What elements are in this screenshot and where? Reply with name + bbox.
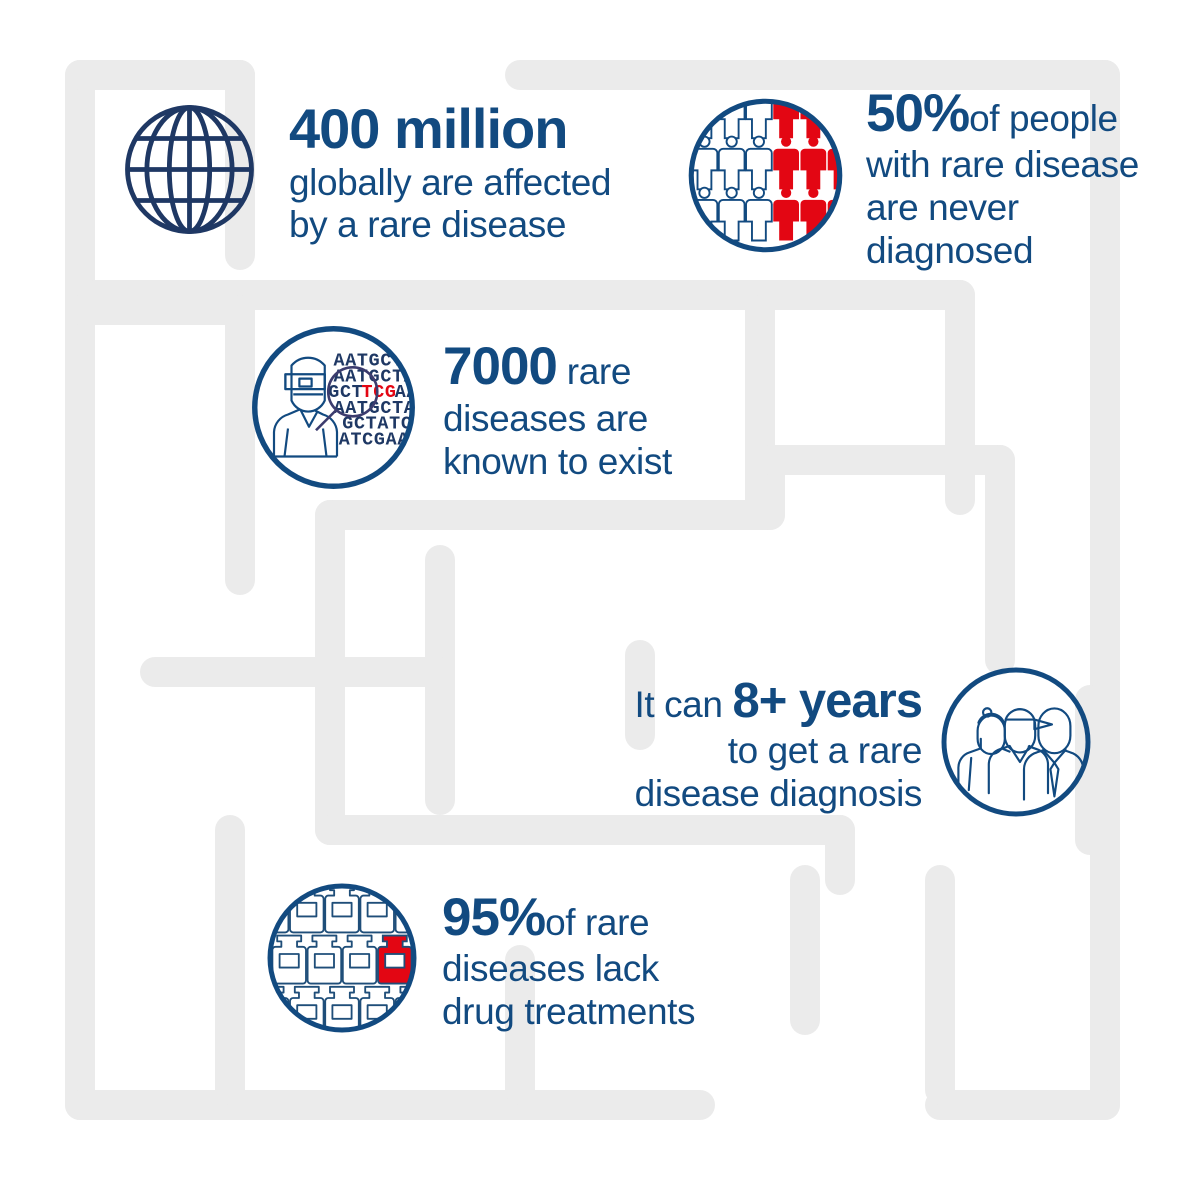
stat-8-plus-years-line-1: to get a rare xyxy=(728,730,922,771)
stat-8-plus-years-line-2: disease diagnosis xyxy=(635,773,922,814)
stat-95-percent-headline: 95% xyxy=(442,888,545,947)
stat-7000-diseases-headline: 7000 xyxy=(443,337,557,396)
stat-7000-diseases-line-3: known to exist xyxy=(443,441,672,482)
stat-50-percent-line-1: of people xyxy=(969,98,1118,139)
stat-8-plus-years-headline: 8+ years xyxy=(732,674,922,728)
stat-95-percent-line-3: drug treatments xyxy=(442,991,695,1032)
people-grid-icon xyxy=(683,93,848,263)
stat-50-percent-line-3: are never xyxy=(866,187,1019,228)
stat-8-plus-years-text: It can 8+ years to get a rare disease di… xyxy=(560,673,922,816)
stat-400-million-headline: 400 million xyxy=(289,97,567,160)
highlighted-vial xyxy=(378,936,412,984)
stat-50-percent-line-4: diagnosed xyxy=(866,230,1033,271)
infographic-canvas: 400 million globally are affected by a r… xyxy=(0,0,1200,1177)
stat-400-million: 400 million globally are affected by a r… xyxy=(112,92,689,252)
stat-8-plus-years-prefix: It can xyxy=(634,684,722,725)
globe-icon xyxy=(112,92,267,252)
stat-95-percent-line-2: diseases lack xyxy=(442,948,659,989)
stat-400-million-text: 400 million globally are affected by a r… xyxy=(289,97,689,248)
stat-50-percent-line-2: with rare disease xyxy=(866,144,1139,185)
stat-95-percent-line-1: of rare xyxy=(545,902,649,943)
stat-7000-diseases-line-2: diseases are xyxy=(443,398,648,439)
stat-7000-diseases-line-1: rare xyxy=(567,351,631,392)
stat-50-percent-headline: 50% xyxy=(866,84,969,143)
stat-8-plus-years: It can 8+ years to get a rare disease di… xyxy=(560,662,1096,827)
scientist-dna-icon: AATGCTATC AATGCTATC GCT TCG AA AATGCTATC… xyxy=(246,320,421,500)
people-group-icon xyxy=(936,662,1096,827)
stat-50-percent: 50%of people with rare disease are never… xyxy=(683,83,1200,273)
stat-50-percent-text: 50%of people with rare disease are never… xyxy=(866,83,1200,273)
stat-7000-diseases-text: 7000 rare diseases are known to exist xyxy=(443,336,723,483)
medicine-vials-icon xyxy=(262,878,422,1043)
stat-95-percent-text: 95%of rare diseases lack drug treatments xyxy=(442,887,742,1034)
stat-7000-diseases: AATGCTATC AATGCTATC GCT TCG AA AATGCTATC… xyxy=(246,320,723,500)
stat-400-million-line-1: globally are affected xyxy=(289,162,611,203)
stat-400-million-line-2: by a rare disease xyxy=(289,204,566,245)
stat-95-percent: 95%of rare diseases lack drug treatments xyxy=(262,878,742,1043)
